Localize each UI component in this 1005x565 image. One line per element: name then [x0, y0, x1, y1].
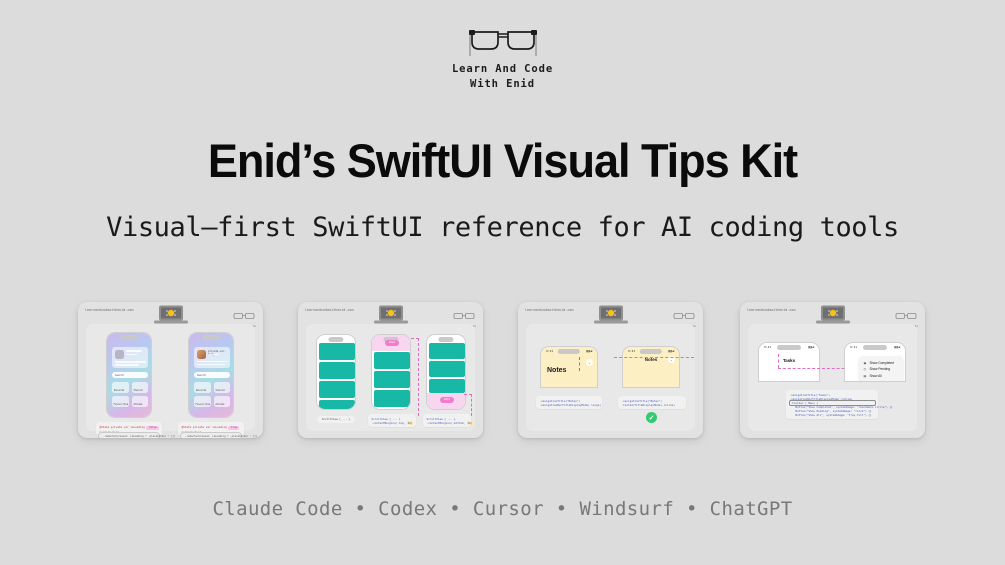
tile-3-label: Favourites [196, 403, 211, 406]
card-url-3: learnandcodewithenid.com [525, 308, 573, 312]
card-strip: learnandcodewithenid.com Learn And Code … [0, 302, 1005, 442]
teal-block [374, 371, 410, 388]
snippet-bottom-line-2: .contentMargins(.bottom, [427, 421, 466, 425]
tile-3[interactable]: Favourites [194, 396, 211, 407]
tile-2[interactable]: Shared [214, 382, 231, 393]
snippet-1-input[interactable]: .redacted(reason: isLoading ? .placehold… [98, 432, 160, 438]
nav-title-tasks: Tasks [783, 358, 795, 363]
notch [120, 335, 138, 340]
teal-block [429, 361, 465, 377]
phone-top-margin[interactable]: 16pt [371, 334, 411, 410]
tile-3[interactable]: Favourites [112, 396, 129, 407]
name-placeholder [126, 350, 142, 352]
annotation-line-bottom [471, 394, 472, 416]
snippet-title-large: .navigationTitle("Notes") .navigationBar… [536, 396, 602, 409]
annotation-title-space [579, 357, 580, 371]
nav-title-large: Notes [547, 367, 566, 374]
card-toolbar-menu[interactable]: learnandcodewithenid.com Learn And Code … [740, 302, 925, 438]
notch [863, 345, 887, 350]
snippet-toolbar-line-2: .navigationBarTitleDisplayMode(.inline) [790, 397, 875, 401]
phone-tasks-collapsed[interactable]: 9:41 ▮▮▰ Tasks [758, 342, 820, 382]
body-placeholder-1 [115, 361, 146, 363]
teal-block [429, 379, 465, 393]
status-icons: ▮▮▰ [586, 349, 593, 353]
card-navigation-title[interactable]: learnandcodewithenid.com Learn And Code … [518, 302, 703, 438]
phone-no-margins[interactable] [316, 334, 356, 410]
annotation-flow-riser [778, 354, 779, 368]
snippet-toolbar-line-5: Button("Show Pending", systemImage: "clo… [790, 409, 875, 413]
glasses-icon-small [673, 312, 695, 320]
profile-card [112, 347, 148, 368]
snippet-top-value: 16) [407, 421, 413, 425]
tray-icon: ▤ [863, 373, 867, 380]
glasses-icon-small [233, 312, 255, 320]
card-url-1: learnandcodewithenid.com [85, 308, 133, 312]
margin-chip-top: 16pt [385, 340, 399, 346]
notch [558, 349, 580, 354]
teal-block [319, 343, 355, 360]
body-line-2 [197, 364, 225, 365]
avatar-placeholder [115, 350, 124, 359]
avatar [197, 350, 206, 359]
brand-block: Learn And Code With Enid [0, 22, 1005, 92]
search-field[interactable]: Search [112, 372, 148, 378]
notch [777, 345, 801, 350]
status-icons: ▮▮▰ [668, 349, 675, 353]
annotation-inline-baseline [614, 357, 694, 358]
phone-bottom-margin[interactable]: 16pt [426, 334, 466, 410]
tile-4[interactable]: Albums [132, 396, 149, 407]
card-gradient-redacted[interactable]: learnandcodewithenid.com Learn And Code … [78, 302, 263, 438]
tile-4[interactable]: Albums [214, 396, 231, 407]
tile-4-label: Albums [216, 403, 225, 406]
card-url-2: learnandcodewithenid.com [305, 308, 353, 312]
snippet-2-title: @State private var isLoading [182, 425, 227, 429]
page-subtitle: Visual—first SwiftUI reference for AI co… [0, 212, 1005, 243]
tile-3-label: Favourites [114, 403, 129, 406]
notch [328, 337, 343, 342]
teal-block [374, 352, 410, 369]
profile-card: private-var-body [194, 347, 230, 368]
snippet-toolbar-line-6: Button("Show All", systemImage: "tray.fu… [790, 413, 875, 417]
status-time: 9:41 [850, 345, 857, 349]
teal-block [319, 381, 355, 398]
status-icons: ▮▮▰ [808, 345, 815, 349]
snippet-toolbar-menu: .navigationTitle("Tasks") .navigationBar… [786, 390, 878, 419]
card-content-margins[interactable]: learnandcodewithenid.com Learn And Code … [298, 302, 483, 438]
snippet-top-line-2: .contentMargins(.top, [372, 421, 406, 425]
teal-block [429, 343, 465, 359]
phone-loading-redacted[interactable]: Search Recents Shared Favourites Albums [106, 332, 152, 418]
card-stage-4: 9:41 ▮▮▰ Tasks 9:41 ▮▮▰ ◉ Show Completed [748, 324, 917, 431]
margin-chip-bottom: 16pt [440, 397, 454, 403]
laptop-icon [594, 305, 628, 324]
toolbar-menu-popup[interactable]: ◉ Show Completed ◷ Show Pending ▤ Show A… [859, 356, 903, 382]
search-field[interactable]: Search [194, 372, 230, 378]
tile-2-label: Shared [134, 389, 143, 392]
tile-1-label: Recents [196, 389, 206, 392]
snippet-2-input[interactable]: .redacted(reason: isLoading ? .placehold… [180, 432, 242, 438]
annotation-connector-top [411, 338, 419, 339]
tile-1-label: Recents [114, 389, 124, 392]
annotation-connector-bottom [464, 394, 472, 395]
card-stage-3: 9:41 ▮▮▰ ⌄ Notes .navigationTitle("Notes… [526, 324, 695, 431]
brand-line-1: Learn And Code [0, 62, 1005, 77]
slide-root: Learn And Code With Enid Enid’s SwiftUI … [0, 0, 1005, 565]
tile-2[interactable]: Shared [132, 382, 149, 393]
card-stage-2: ScrollView { ... } 16pt ScrollView { ...… [306, 324, 475, 431]
tile-1[interactable]: Recents [194, 382, 211, 393]
status-icons: ▮▮▰ [894, 345, 901, 349]
snippet-1-title: @State private var isLoading [100, 425, 145, 429]
snippet-inline-line-2: .toolbarTitleDisplayMode(.inline) [622, 403, 683, 407]
annotation-line-top [418, 338, 419, 416]
notch [438, 337, 453, 342]
phone-title-inline[interactable]: 9:41 ▮▮▰ ⌄ Notes [622, 346, 680, 388]
snippet-plain-scrollview: ScrollView { ... } [317, 416, 355, 423]
glasses-icon [464, 22, 542, 62]
teal-block [319, 362, 355, 379]
green-check-icon: ✓ [646, 412, 657, 423]
teal-block [319, 400, 355, 410]
snippet-2-badge: true [228, 426, 239, 430]
tile-1[interactable]: Recents [112, 382, 129, 393]
snippet-top-margin: ScrollView { ... } .contentMargins(.top,… [368, 414, 416, 427]
card-stage-1: Search Recents Shared Favourites Albums [86, 324, 255, 431]
more-button[interactable]: ⌄ [586, 359, 593, 366]
body-placeholder-2 [115, 364, 139, 366]
phone-loaded-content[interactable]: private-var-body Search Recents Shared [188, 332, 234, 418]
notch [640, 349, 662, 354]
notch [202, 335, 220, 340]
subtitle-placeholder [126, 354, 137, 356]
page-title: Enid’s SwiftUI Visual Tips Kit [20, 133, 985, 188]
snippet-1-badge: false [146, 426, 159, 430]
body-line-1 [197, 361, 228, 362]
search-placeholder: Search [197, 374, 206, 377]
snippet-toolbar-line-4: Button("Show Completed", systemImage: "c… [790, 405, 875, 409]
snippet-bottom-margin: ScrollView { ... } .contentMargins(.bott… [423, 414, 471, 427]
glasses-icon-small [895, 312, 917, 320]
laptop-icon [816, 305, 850, 324]
profile-name: private-var-body [208, 350, 230, 356]
status-time: 9:41 [764, 345, 771, 349]
card-url-4: learnandcodewithenid.com [747, 308, 795, 312]
search-placeholder: Search [115, 374, 124, 377]
teal-block [374, 390, 410, 407]
status-time: 9:41 [628, 349, 635, 353]
status-time: 9:41 [546, 349, 553, 353]
phone-tasks-menu-open[interactable]: 9:41 ▮▮▰ ◉ Show Completed ◷ Show Pending… [844, 342, 906, 382]
laptop-icon [154, 305, 188, 324]
glasses-icon-small [453, 312, 475, 320]
snippet-bottom-value: 16) [467, 421, 473, 425]
menu-item-label: Show All [870, 373, 882, 380]
laptop-icon [374, 305, 408, 324]
snippet-title-inline: .navigationTitle("Notes") .toolbarTitleD… [618, 396, 686, 409]
menu-item-show-all[interactable]: ▤ Show All [863, 373, 899, 380]
footer-tools: Claude Code • Codex • Cursor • Windsurf … [0, 498, 1005, 520]
tile-2-label: Shared [216, 389, 225, 392]
phone-title-large[interactable]: 9:41 ▮▮▰ ⌄ Notes [540, 346, 598, 388]
tile-4-label: Albums [134, 403, 143, 406]
snippet-large-line-2: .navigationBarTitleDisplayMode(.large) [540, 403, 599, 407]
brand-line-2: With Enid [0, 77, 1005, 92]
